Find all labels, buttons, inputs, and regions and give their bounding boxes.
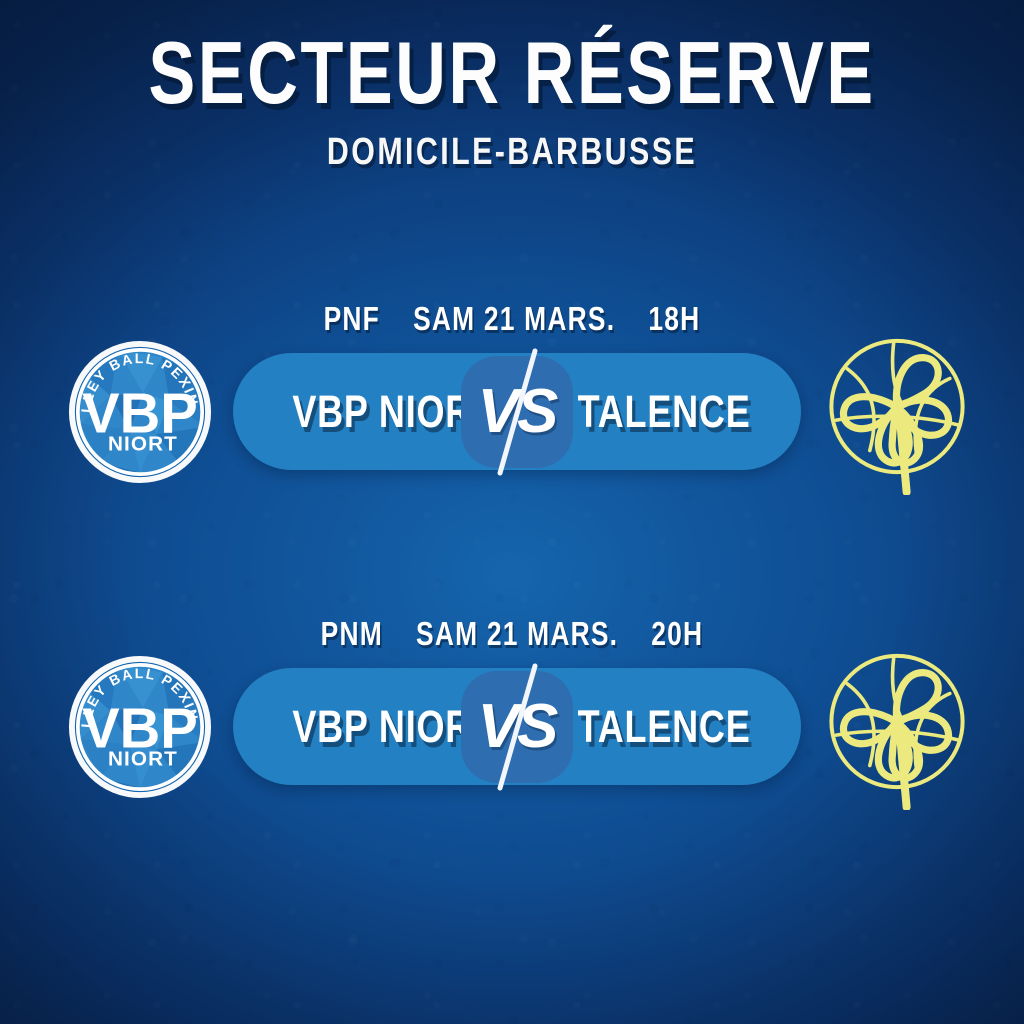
home-team-logo: VOLLEY BALL PEXINOIS VBP NIORT [66,338,214,486]
page-title: SECTEUR RÉSERVE [102,0,921,119]
match-announcement-poster: SECTEUR RÉSERVE DOMICILE-BARBUSSE PNF SA… [0,0,1024,1024]
home-team: VBP NIORT [267,701,489,753]
match-date: SAM 21 MARS. [413,300,615,337]
away-team-logo [817,330,977,495]
home-team-logo: VOLLEY BALL PEXINOIS VBP NIORT [66,653,214,801]
match-time: 20H [651,615,703,652]
logo-city: NIORT [108,432,178,455]
away-team-logo [817,645,977,810]
match-date: SAM 21 MARS. [416,615,618,652]
matchup-pill: VBP NIORT VS TALENCE [233,353,801,470]
poster-subtitle: DOMICILE-BARBUSSE [102,119,921,174]
logo-city: NIORT [108,747,178,770]
away-team: TALENCE [553,386,775,438]
home-team: VBP NIORT [267,386,489,438]
away-team: TALENCE [553,701,775,753]
match-time: 18H [648,300,700,337]
away-team-name: TALENCE [578,701,751,753]
match-meta: PNM SAM 21 MARS. 20H [102,615,921,653]
match-category: PNF [324,300,380,337]
match-card: PNM SAM 21 MARS. 20H [0,615,1024,915]
matchup-pill: VBP NIORT VS TALENCE [233,668,801,785]
match-category: PNM [321,615,383,652]
poster-header: SECTEUR RÉSERVE DOMICILE-BARBUSSE [0,0,1024,174]
match-card: PNF SAM 21 MARS. 18H [0,300,1024,600]
match-meta: PNF SAM 21 MARS. 18H [102,300,921,338]
away-team-name: TALENCE [578,386,751,438]
